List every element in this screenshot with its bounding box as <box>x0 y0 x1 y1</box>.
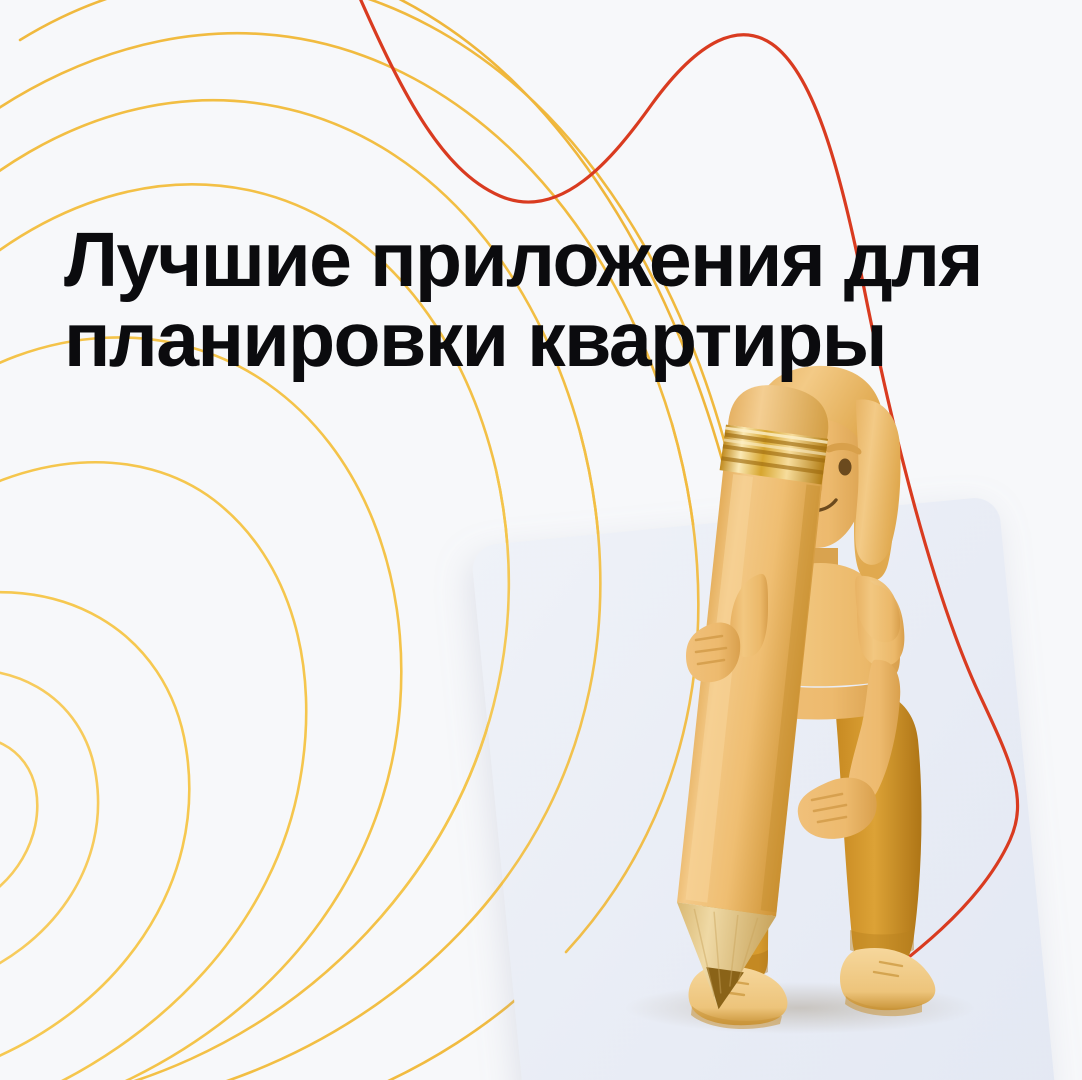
figure-eye-right <box>839 459 852 476</box>
illustration-woman-with-pencil <box>0 0 1082 1080</box>
figure-back-shoe <box>840 948 935 1016</box>
figure-hair-side <box>855 399 900 564</box>
poster-canvas: Лучшие приложения для планировки квартир… <box>0 0 1082 1080</box>
